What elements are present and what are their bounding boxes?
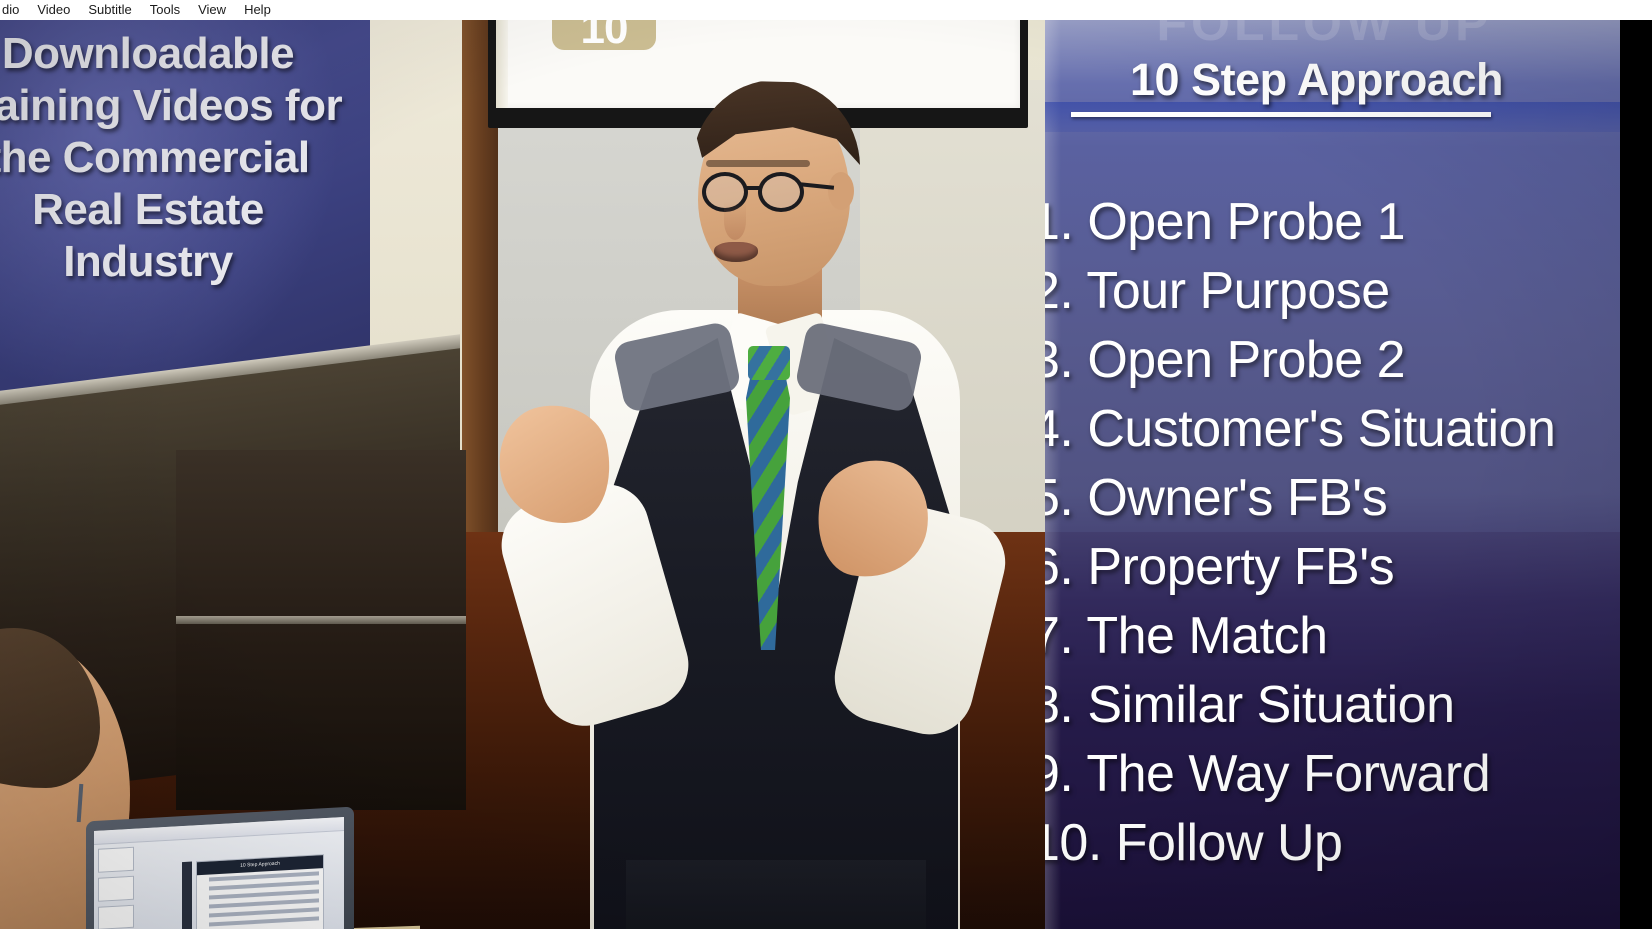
slide-step-item: 10. Follow Up [1045, 809, 1620, 878]
slide-step-item: 3. Open Probe 2 [1045, 326, 1620, 395]
laptop-slide-line [209, 889, 319, 899]
slide-ghost-title: FOLLOW UP [1045, 20, 1612, 52]
presenter-nose [724, 202, 746, 240]
laptop-slide-line [209, 871, 319, 881]
slide-step-item: 2. Tour Purpose [1045, 257, 1620, 326]
slide-step-list: 1. Open Probe 1 2. Tour Purpose 3. Open … [1045, 188, 1620, 878]
glasses-right-lens-icon [758, 172, 804, 212]
slide-step-item: 1. Open Probe 1 [1045, 188, 1620, 257]
menu-item-audio[interactable]: dio [0, 0, 28, 20]
laptop-slide-thumbnail [98, 876, 134, 902]
laptop-slide-thumbnail [98, 904, 134, 929]
laptop-current-slide: 10 Step Approach [196, 854, 324, 929]
laptop-slide-line [209, 907, 319, 917]
slide-step-item: 4. Customer's Situation [1045, 395, 1620, 464]
laptop-screen: 10 Step Approach [94, 817, 344, 929]
promo-banner-text: Downloadable Training Videos for the Com… [0, 28, 348, 288]
right-letterbox-bar [1620, 20, 1652, 929]
laptop-slide-body [197, 868, 323, 927]
laptop-slide-thumbnails [98, 847, 138, 929]
slide-title-underline [1071, 112, 1491, 117]
slide-overlay-panel: FOLLOW UP 10 Step Approach 1. Open Probe… [1045, 20, 1620, 929]
slide-title: 10 Step Approach [1045, 54, 1604, 106]
laptop-slide-line [209, 916, 319, 926]
slide-number-badge: 10 [552, 20, 656, 50]
presenter-necktie-knot [748, 346, 790, 380]
presenter-mouth [714, 242, 758, 262]
audience-laptop: 10 Step Approach [86, 814, 354, 929]
slide-step-item: 7. The Match [1045, 602, 1620, 671]
slide-step-item: 6. Property FB's [1045, 533, 1620, 602]
presenter-ear [828, 172, 854, 210]
laptop-slide-line [209, 898, 319, 908]
podium-front [176, 450, 466, 810]
menu-item-tools[interactable]: Tools [141, 0, 189, 20]
slide-overlay-top-band [1045, 102, 1620, 132]
video-canvas[interactable]: 10 Downloadable Training Videos for the … [0, 20, 1652, 929]
laptop-slide-thumbnail [98, 847, 134, 873]
menu-bar: dio Video Subtitle Tools View Help [0, 0, 1652, 20]
slide-step-item: 8. Similar Situation [1045, 671, 1620, 740]
menu-item-help[interactable]: Help [235, 0, 280, 20]
slide-step-item: 5. Owner's FB's [1045, 464, 1620, 533]
presenter-brow [706, 160, 810, 167]
presenter-trousers [626, 860, 926, 929]
media-player-window: dio Video Subtitle Tools View Help 10 Do… [0, 0, 1652, 929]
podium-edge [176, 616, 466, 624]
menu-item-view[interactable]: View [189, 0, 235, 20]
laptop-slide-line [209, 880, 319, 890]
glasses-bridge-icon [747, 186, 761, 190]
laptop-filmstrip [182, 862, 192, 929]
menu-item-subtitle[interactable]: Subtitle [79, 0, 140, 20]
slide-step-item: 9. The Way Forward [1045, 740, 1620, 809]
menu-item-video[interactable]: Video [28, 0, 79, 20]
presenter-figure [470, 60, 1030, 929]
